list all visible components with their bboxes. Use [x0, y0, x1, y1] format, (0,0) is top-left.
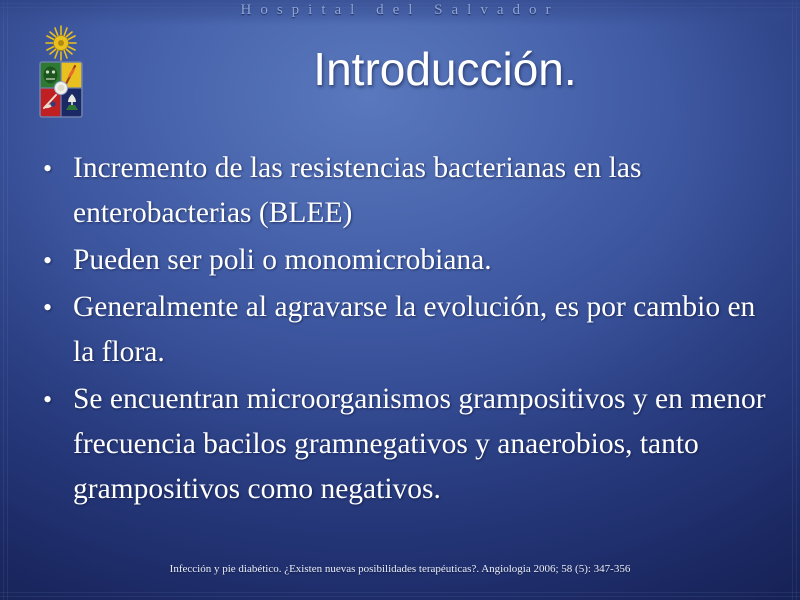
list-item-text: Generalmente al agravarse la evolución, … [73, 285, 780, 375]
list-item: • Se encuentran microorganismos gramposi… [36, 377, 780, 512]
bullet-icon: • [43, 238, 65, 283]
list-item: • Incremento de las resistencias bacteri… [36, 146, 780, 236]
bullet-icon: • [43, 146, 65, 191]
list-item-text: Se encuentran microorganismos grampositi… [73, 377, 780, 512]
list-item: • Generalmente al agravarse la evolución… [36, 285, 780, 375]
universidad-de-chile-shield-logo [33, 24, 89, 128]
list-item-text: Incremento de las resistencias bacterian… [73, 146, 780, 236]
presentation-slide: Hospital del Salvador [0, 0, 800, 600]
bullet-list: • Incremento de las resistencias bacteri… [36, 146, 780, 514]
list-item-text: Pueden ser poli o monomicrobiana. [73, 238, 780, 283]
institution-name: Hospital del Salvador [0, 2, 800, 19]
source-citation: Infección y pie diabético. ¿Existen nuev… [0, 563, 800, 575]
page-title: Introducción. [100, 42, 790, 96]
list-item: • Pueden ser poli o monomicrobiana. [36, 238, 780, 283]
bullet-icon: • [43, 285, 65, 330]
bullet-icon: • [43, 377, 65, 422]
